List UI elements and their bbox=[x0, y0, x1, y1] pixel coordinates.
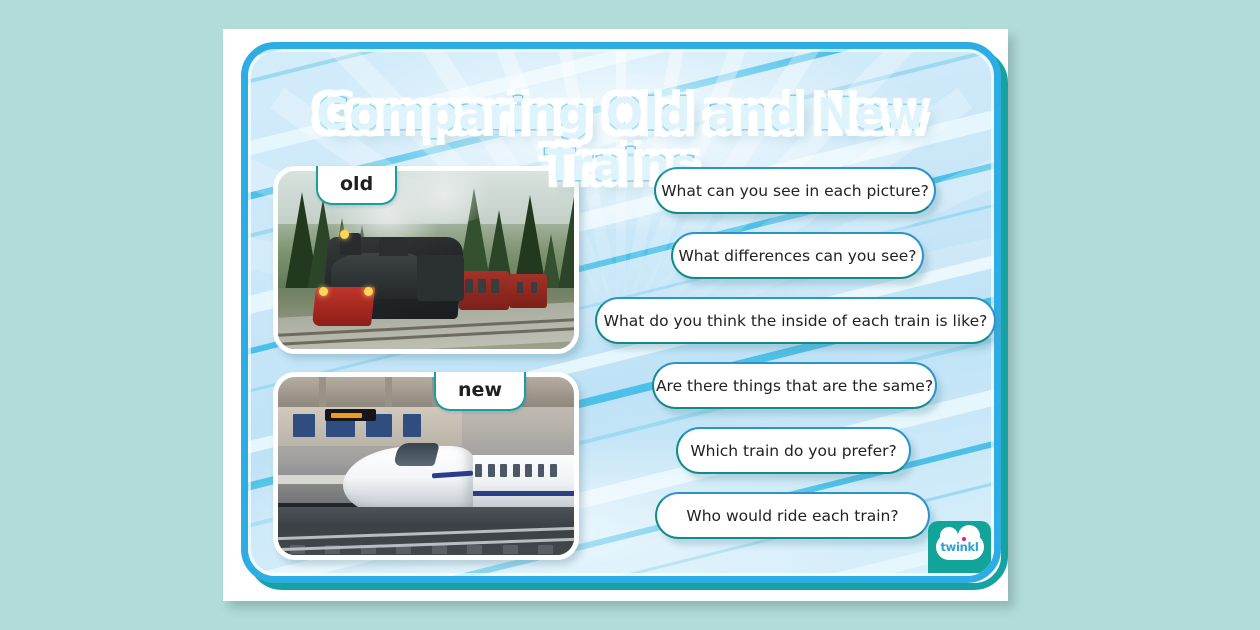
train-carriage bbox=[456, 455, 574, 507]
headlamp-icon bbox=[340, 230, 349, 239]
headlamp-icon bbox=[364, 287, 373, 296]
question-pill[interactable]: What do you think the inside of each tra… bbox=[595, 297, 996, 344]
question-text: What differences can you see? bbox=[678, 247, 916, 265]
sleeper bbox=[467, 545, 482, 554]
question-text: What can you see in each picture? bbox=[661, 182, 929, 200]
sleeper bbox=[538, 545, 553, 554]
question-text: Are there things that are the same? bbox=[656, 377, 933, 395]
question-text: Who would ride each train? bbox=[686, 507, 898, 525]
train-window bbox=[475, 464, 482, 477]
train-window bbox=[488, 464, 495, 477]
carriage-window bbox=[478, 279, 486, 292]
rail bbox=[278, 526, 574, 540]
question-text: What do you think the inside of each tra… bbox=[604, 312, 988, 330]
rail bbox=[278, 538, 574, 552]
carriage-window bbox=[531, 282, 537, 293]
twinkl-logo: twinkl bbox=[928, 521, 991, 573]
photo-new-train bbox=[278, 377, 574, 555]
question-text: Which train do you prefer? bbox=[690, 442, 896, 460]
sleeper bbox=[432, 545, 447, 554]
train-window bbox=[500, 464, 507, 477]
departure-board bbox=[325, 409, 375, 421]
tree-icon bbox=[556, 197, 574, 301]
carriage-window bbox=[465, 279, 473, 292]
twinkl-wordmark: twinkl bbox=[940, 540, 978, 554]
twinkl-dot-icon bbox=[962, 537, 966, 541]
bullet-train-scene bbox=[278, 377, 574, 555]
carriage bbox=[459, 271, 509, 310]
steam-dome bbox=[379, 237, 409, 257]
carriage-window bbox=[517, 282, 523, 293]
question-pill[interactable]: Who would ride each train? bbox=[655, 492, 930, 539]
blue-stripe bbox=[456, 491, 574, 496]
question-pill[interactable]: What differences can you see? bbox=[671, 232, 924, 279]
train-window bbox=[513, 464, 520, 477]
photo-card-old: old bbox=[273, 166, 579, 354]
carriage-window bbox=[491, 279, 499, 292]
driver-cab-window bbox=[394, 443, 441, 466]
railway-track bbox=[278, 507, 574, 555]
photo-card-new: new bbox=[273, 372, 579, 560]
question-pill[interactable]: What can you see in each picture? bbox=[654, 167, 936, 214]
carriage bbox=[509, 274, 547, 308]
train-window bbox=[550, 464, 557, 477]
cloud-icon: twinkl bbox=[936, 534, 984, 560]
shop-window bbox=[403, 414, 421, 437]
sleeper bbox=[503, 545, 518, 554]
train-window bbox=[538, 464, 545, 477]
question-pill[interactable]: Are there things that are the same? bbox=[652, 362, 937, 409]
train-window bbox=[525, 464, 532, 477]
locomotive-cab bbox=[417, 255, 464, 301]
question-pill[interactable]: Which train do you prefer? bbox=[676, 427, 911, 474]
shop-window bbox=[293, 414, 315, 437]
photo-label-new: new bbox=[434, 372, 526, 411]
